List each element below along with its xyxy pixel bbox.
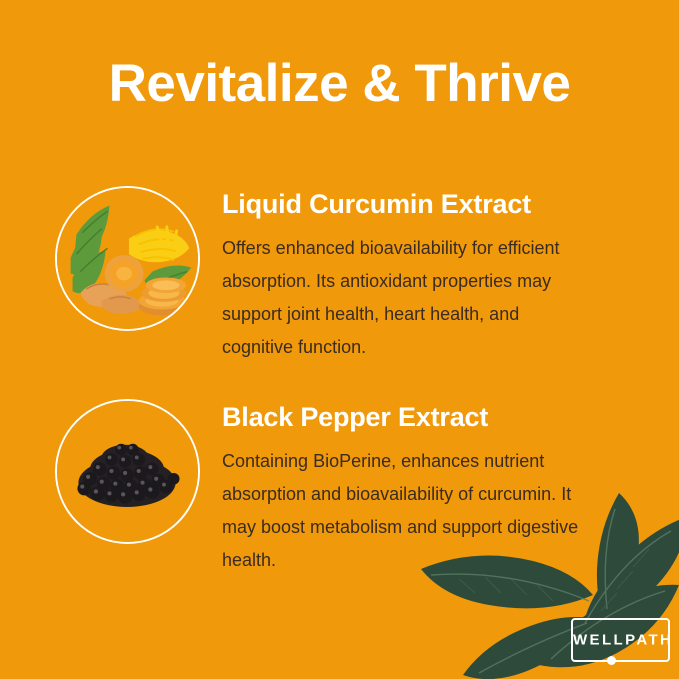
wellpath-logo: WELLPATH: [571, 618, 670, 662]
feature-copy-curcumin: Liquid Curcumin Extract Offers enhanced …: [222, 190, 594, 364]
feature-copy-black-pepper: Black Pepper Extract Containing BioPerin…: [222, 403, 594, 577]
feature-body: Offers enhanced bioavailability for effi…: [222, 232, 594, 364]
page-title: Revitalize & Thrive: [0, 56, 679, 112]
feature-heading: Liquid Curcumin Extract: [222, 190, 594, 220]
feature-heading: Black Pepper Extract: [222, 403, 594, 433]
turmeric-root-image: [55, 186, 200, 331]
wellpath-logo-dot: [607, 656, 616, 665]
wellpath-logo-text: WELLPATH: [573, 632, 668, 649]
feature-body: Containing BioPerine, enhances nutrient …: [222, 445, 594, 577]
product-infographic: Revitalize & Thrive: [0, 0, 679, 679]
black-peppercorns-image: [55, 399, 200, 544]
